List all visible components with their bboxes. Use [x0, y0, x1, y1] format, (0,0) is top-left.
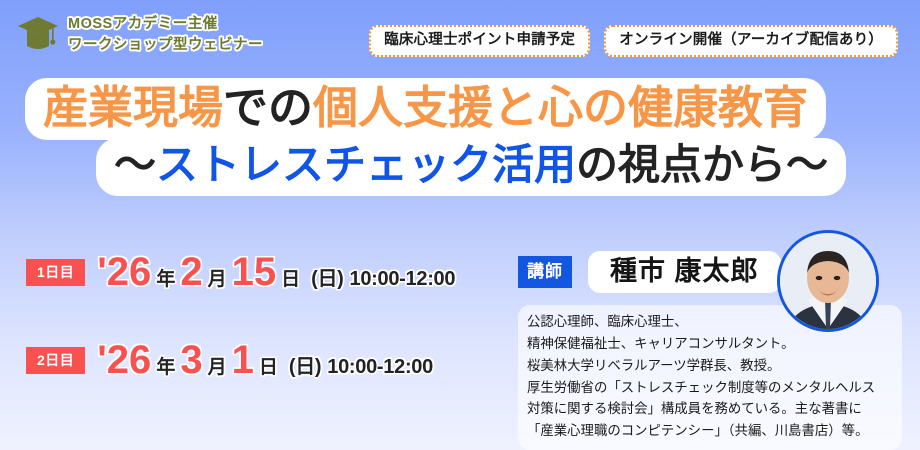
- month-unit-1: 月: [208, 270, 227, 289]
- schedule-row-day1: 1日目 '26 年 2 月 15 日 (日) 10:00-12:00: [26, 250, 455, 294]
- date-text-1: '26 年 2 月 15 日 (日) 10:00-12:00: [97, 252, 455, 292]
- date-text-2: '26 年 3 月 1 日 (日) 10:00-12:00: [97, 340, 433, 380]
- day-chip-1: 1日目: [26, 259, 85, 286]
- bio-line-4: 厚生労働省の「ストレスチェック制度等のメンタルヘルス: [527, 377, 893, 399]
- weekday-2: (日): [289, 357, 321, 377]
- day-unit-1: 日: [281, 270, 300, 289]
- day-1: 15: [232, 252, 277, 292]
- subtitle-seg-2: ストレスチェック活用: [156, 141, 576, 188]
- bio-line-3: 桜美林大学リベラルアーツ学群長、教授。: [527, 355, 893, 377]
- speaker-name: 種市 康太郎: [588, 251, 781, 293]
- time-2: 10:00-12:00: [327, 357, 433, 377]
- subtitle-seg-1: 〜: [114, 141, 156, 188]
- day-unit-2: 日: [259, 358, 278, 377]
- title-block: 産業現場での個人支援と心の健康教育 〜ストレスチェック活用の視点から〜: [0, 78, 920, 196]
- year-1: '26: [97, 252, 151, 292]
- webinar-banner: MOSSアカデミー主催 ワークショップ型ウェビナー 臨床心理士ポイント申請予定 …: [0, 0, 920, 450]
- month-2: 3: [180, 340, 202, 380]
- bio-line-6: 「産業心理職のコンピテンシー」（共編、川島書店）等。: [527, 420, 893, 442]
- title-seg-2: での: [223, 82, 313, 133]
- year-unit-1: 年: [156, 270, 175, 289]
- day-chip-2: 2日目: [26, 347, 85, 374]
- speaker-portrait: [777, 230, 879, 332]
- badge-group: 臨床心理士ポイント申請予定 オンライン開催（アーカイブ配信あり）: [369, 25, 898, 57]
- bio-line-2: 精神保健福祉士、キャリアコンサルタント。: [527, 333, 893, 355]
- brand-text: MOSSアカデミー主催 ワークショップ型ウェビナー: [68, 14, 263, 56]
- subtitle-seg-3: の視点から〜: [576, 141, 828, 188]
- badge-online-archive: オンライン開催（アーカイブ配信あり）: [604, 25, 898, 57]
- bio-line-5: 対策に関する検討会」構成員を務めている。主な著書に: [527, 398, 893, 420]
- brand-block: MOSSアカデミー主催 ワークショップ型ウェビナー: [16, 14, 263, 56]
- brand-line-1: MOSSアカデミー主催: [68, 14, 263, 35]
- brand-line-2: ワークショップ型ウェビナー: [68, 35, 263, 56]
- title-line-2: 〜ストレスチェック活用の視点から〜: [96, 138, 846, 197]
- graduation-cap-icon: [16, 14, 60, 56]
- title-seg-1: 産業現場: [43, 82, 223, 133]
- title-seg-3: 個人支援と心の健康教育: [313, 82, 808, 133]
- month-1: 2: [180, 252, 202, 292]
- year-2: '26: [97, 340, 151, 380]
- lecturer-chip: 講師: [518, 256, 572, 288]
- schedule-block: 1日目 '26 年 2 月 15 日 (日) 10:00-12:00 2日目 '…: [26, 250, 455, 426]
- badge-clinical-points: 臨床心理士ポイント申請予定: [369, 25, 590, 57]
- weekday-1: (日): [311, 269, 343, 289]
- day-2: 1: [232, 340, 254, 380]
- month-unit-2: 月: [208, 358, 227, 377]
- title-line-1: 産業現場での個人支援と心の健康教育: [25, 78, 826, 140]
- time-1: 10:00-12:00: [350, 269, 456, 289]
- schedule-row-day2: 2日目 '26 年 3 月 1 日 (日) 10:00-12:00: [26, 338, 455, 382]
- year-unit-2: 年: [156, 358, 175, 377]
